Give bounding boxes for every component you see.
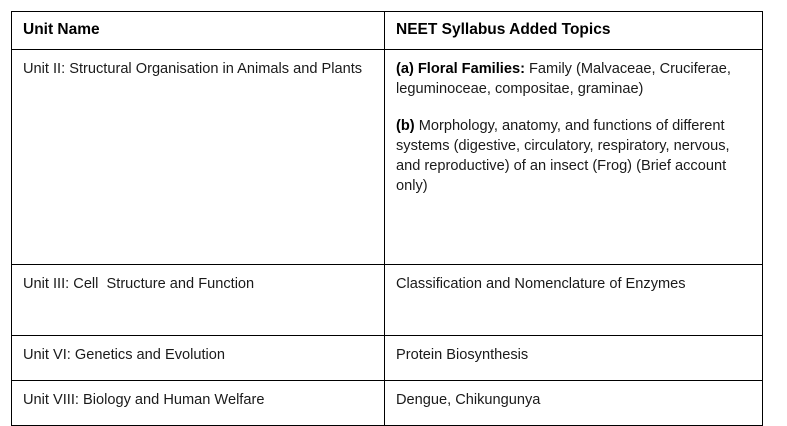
neet-syllabus-table: Unit Name NEET Syllabus Added Topics Uni…	[11, 11, 763, 426]
topic-lead-label: (b)	[396, 118, 415, 134]
column-header-unit-name: Unit Name	[12, 12, 385, 50]
table-row: Unit VIII: Biology and Human Welfare Den…	[12, 380, 763, 425]
topic-paragraph: Dengue, Chikungunya	[396, 390, 751, 410]
cell-unit-name: Unit VI: Genetics and Evolution	[12, 335, 385, 380]
cell-added-topics: (a) Floral Families: Family (Malvaceae, …	[385, 49, 763, 264]
topic-text: Classification and Nomenclature of Enzym…	[396, 276, 686, 292]
cell-unit-name: Unit III: Cell Structure and Function	[12, 264, 385, 335]
topic-paragraph: Classification and Nomenclature of Enzym…	[396, 274, 751, 294]
table-body: Unit II: Structural Organisation in Anim…	[12, 49, 763, 425]
topic-text: Protein Biosynthesis	[396, 347, 528, 363]
topic-text: Dengue, Chikungunya	[396, 392, 540, 408]
cell-added-topics: Dengue, Chikungunya	[385, 380, 763, 425]
table-row: Unit II: Structural Organisation in Anim…	[12, 49, 763, 264]
cell-added-topics: Classification and Nomenclature of Enzym…	[385, 264, 763, 335]
cell-unit-name: Unit II: Structural Organisation in Anim…	[12, 49, 385, 264]
table-header: Unit Name NEET Syllabus Added Topics	[12, 12, 763, 50]
topic-paragraph: (b) Morphology, anatomy, and functions o…	[396, 116, 751, 197]
cell-added-topics: Protein Biosynthesis	[385, 335, 763, 380]
topic-paragraph: Protein Biosynthesis	[396, 345, 751, 365]
topic-text: Morphology, anatomy, and functions of di…	[396, 118, 734, 194]
column-header-added-topics: NEET Syllabus Added Topics	[385, 12, 763, 50]
topic-lead-label: (a) Floral Families:	[396, 61, 525, 77]
table-header-row: Unit Name NEET Syllabus Added Topics	[12, 12, 763, 50]
document-page: Unit Name NEET Syllabus Added Topics Uni…	[0, 0, 787, 411]
topic-paragraph: (a) Floral Families: Family (Malvaceae, …	[396, 59, 751, 99]
table-row: Unit III: Cell Structure and Function Cl…	[12, 264, 763, 335]
cell-unit-name: Unit VIII: Biology and Human Welfare	[12, 380, 385, 425]
table-row: Unit VI: Genetics and Evolution Protein …	[12, 335, 763, 380]
